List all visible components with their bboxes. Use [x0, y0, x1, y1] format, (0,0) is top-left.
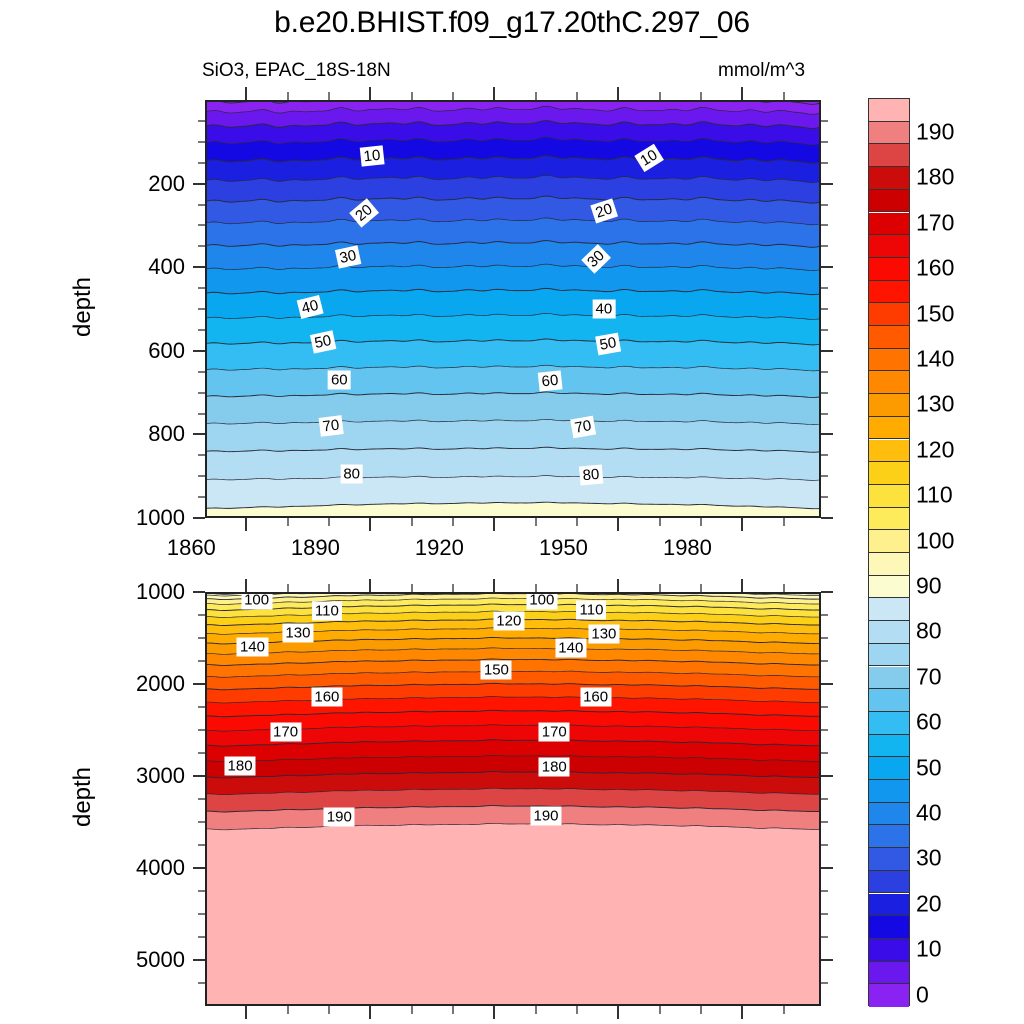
ytick-label-top: 800: [75, 421, 185, 447]
contour-label: 50: [595, 332, 621, 355]
xtick-minor: [328, 92, 330, 100]
xtick-major: [369, 87, 371, 100]
ytick-major: [821, 517, 833, 519]
xtick-major: [369, 1006, 371, 1019]
xtick-minor: [576, 92, 578, 100]
xtick-minor: [411, 92, 413, 100]
ytick-minor: [198, 392, 205, 394]
ytick-minor: [198, 224, 205, 226]
upper-depth-contour-panel: 10102020303040405050606070708080: [205, 100, 821, 518]
contour-label: 30: [334, 245, 360, 268]
contour-label: 160: [580, 688, 611, 707]
xtick-minor: [576, 518, 578, 526]
xtick-label-top: 1980: [632, 535, 742, 561]
ytick-minor: [198, 120, 205, 122]
ytick-minor: [821, 329, 828, 331]
ytick-minor: [821, 496, 828, 498]
ytick-minor: [198, 844, 205, 846]
colorbar-cell[interactable]: [869, 803, 909, 826]
contour-label: 100: [526, 592, 557, 610]
y-axis-title-top: depth: [69, 247, 97, 367]
colorbar-cell[interactable]: [869, 621, 909, 644]
colorbar-tick-label: 90: [916, 573, 942, 600]
colorbar-cell[interactable]: [869, 394, 909, 417]
ytick-major: [193, 350, 205, 352]
ytick-minor: [198, 287, 205, 289]
ytick-minor: [198, 798, 205, 800]
contour-label: 60: [538, 371, 563, 392]
ytick-label-bottom: 2000: [75, 671, 185, 697]
ytick-minor: [198, 936, 205, 938]
ytick-minor: [198, 821, 205, 823]
xtick-minor: [535, 584, 537, 592]
ytick-minor: [198, 308, 205, 310]
ytick-major: [821, 683, 833, 685]
xtick-minor: [659, 92, 661, 100]
xtick-minor: [287, 1006, 289, 1014]
colorbar-cell[interactable]: [869, 644, 909, 667]
ytick-major: [821, 433, 833, 435]
colorbar-tick-label: 190: [916, 119, 954, 146]
ytick-minor: [198, 637, 205, 639]
ytick-major: [193, 266, 205, 268]
xtick-label-top: 1920: [384, 535, 494, 561]
colorbar-cell[interactable]: [869, 462, 909, 485]
colorbar-tick-label: 30: [916, 845, 942, 872]
ytick-major: [193, 517, 205, 519]
ytick-minor: [821, 204, 828, 206]
ytick-minor: [821, 224, 828, 226]
contour-label: 120: [493, 611, 524, 630]
contour-label: 130: [588, 624, 619, 643]
contour-label: 150: [481, 661, 512, 680]
xtick-minor: [783, 1006, 785, 1014]
xtick-minor: [328, 518, 330, 526]
ytick-major: [821, 775, 833, 777]
xtick-major: [741, 87, 743, 100]
ytick-major: [821, 266, 833, 268]
ytick-major: [193, 959, 205, 961]
xtick-major: [493, 518, 495, 531]
lower-depth-contour-panel: 1001001101101201301301401401501601601701…: [205, 592, 821, 1006]
xtick-minor: [287, 518, 289, 526]
colorbar-cell[interactable]: [869, 871, 909, 894]
ytick-minor: [821, 614, 828, 616]
ytick-minor: [198, 245, 205, 247]
colorbar-cell[interactable]: [869, 190, 909, 213]
ytick-minor: [821, 982, 828, 984]
ytick-minor: [821, 392, 828, 394]
colorbar-tick-label: 140: [916, 346, 954, 373]
ytick-minor: [821, 798, 828, 800]
ytick-minor: [198, 614, 205, 616]
xtick-minor: [783, 584, 785, 592]
ytick-minor: [821, 162, 828, 164]
ytick-minor: [821, 936, 828, 938]
contour-label: 160: [311, 687, 342, 706]
contour-label: 60: [328, 370, 351, 389]
ytick-major: [193, 683, 205, 685]
xtick-major: [617, 518, 619, 531]
ytick-minor: [821, 752, 828, 754]
colorbar-cell[interactable]: [869, 99, 909, 122]
ytick-major: [193, 183, 205, 185]
colorbar-cell[interactable]: [869, 326, 909, 349]
contour-label: 180: [225, 757, 256, 776]
contour-label: 140: [237, 638, 268, 657]
ytick-label-top: 200: [75, 171, 185, 197]
contour-field: [207, 594, 821, 1006]
ytick-minor: [198, 496, 205, 498]
colorbar-cell[interactable]: [869, 576, 909, 599]
colorbar-tick-label: 110: [916, 482, 953, 509]
ytick-major: [193, 867, 205, 869]
ytick-minor: [821, 371, 828, 373]
xtick-minor: [783, 518, 785, 526]
ytick-minor: [821, 844, 828, 846]
contour-label: 40: [593, 299, 616, 318]
ytick-minor: [821, 413, 828, 415]
ytick-major: [821, 591, 833, 593]
xtick-minor: [700, 92, 702, 100]
colorbar-cell[interactable]: [869, 984, 909, 1007]
xtick-minor: [535, 518, 537, 526]
colorbar-cell[interactable]: [869, 508, 909, 531]
xtick-major: [741, 579, 743, 592]
colorbar-tick-label: 70: [916, 663, 942, 690]
colorbar-tick-label: 150: [916, 300, 954, 327]
units-label: mmol/m^3: [718, 60, 805, 82]
xtick-major: [369, 579, 371, 592]
contour-label: 10: [360, 146, 385, 167]
colorbar-cell[interactable]: [869, 530, 909, 553]
colorbar-tick-label: 0: [916, 981, 929, 1008]
ytick-minor: [198, 752, 205, 754]
xtick-minor: [576, 1006, 578, 1014]
xtick-minor: [700, 518, 702, 526]
ytick-minor: [198, 660, 205, 662]
xtick-minor: [783, 92, 785, 100]
y-axis-title-bottom: depth: [69, 737, 97, 857]
xtick-major: [617, 579, 619, 592]
xtick-major: [369, 518, 371, 531]
xtick-minor: [659, 584, 661, 592]
ytick-major: [821, 350, 833, 352]
ytick-minor: [198, 141, 205, 143]
ytick-major: [821, 183, 833, 185]
colorbar-tick-label: 10: [916, 936, 942, 963]
xtick-major: [245, 87, 247, 100]
colorbar-tick-label: 50: [916, 754, 942, 781]
colorbar-cell[interactable]: [869, 371, 909, 394]
colorbar-cell[interactable]: [869, 235, 909, 258]
xtick-minor: [328, 1006, 330, 1014]
figure-canvas: b.e20.BHIST.f09_g17.20thC.297_06 SiO3, E…: [0, 0, 1024, 1024]
ytick-minor: [821, 729, 828, 731]
colorbar-cell[interactable]: [869, 667, 909, 690]
colorbar-tick-label: 20: [916, 890, 942, 917]
ytick-minor: [821, 821, 828, 823]
colorbar-cell[interactable]: [869, 848, 909, 871]
ytick-minor: [198, 204, 205, 206]
ytick-major: [193, 591, 205, 593]
xtick-major: [245, 579, 247, 592]
contour-label: 70: [319, 415, 344, 437]
colorbar-cell[interactable]: [869, 440, 909, 463]
xtick-major: [493, 1006, 495, 1019]
xtick-minor: [411, 518, 413, 526]
colorbar-tick-label: 160: [916, 255, 954, 282]
xtick-minor: [328, 584, 330, 592]
ytick-label-bottom: 1000: [75, 579, 185, 605]
ytick-minor: [198, 982, 205, 984]
ytick-label-top: 1000: [75, 505, 185, 531]
xtick-minor: [452, 584, 454, 592]
xtick-minor: [659, 1006, 661, 1014]
ytick-minor: [821, 637, 828, 639]
ytick-label-bottom: 5000: [75, 947, 185, 973]
xtick-major: [617, 1006, 619, 1019]
colorbar-tick-label: 80: [916, 618, 942, 645]
colorbar-cell[interactable]: [869, 303, 909, 326]
xtick-minor: [452, 1006, 454, 1014]
ytick-minor: [821, 660, 828, 662]
ytick-minor: [198, 913, 205, 915]
colorbar-cell[interactable]: [869, 962, 909, 985]
contour-label: 180: [539, 757, 570, 776]
xtick-minor: [411, 584, 413, 592]
variable-region-label: SiO3, EPAC_18S-18N: [202, 60, 391, 82]
colorbar-cell[interactable]: [869, 485, 909, 508]
contour-label: 80: [579, 464, 603, 485]
ytick-minor: [198, 454, 205, 456]
xtick-minor: [452, 518, 454, 526]
xtick-label-top: 1950: [508, 535, 618, 561]
colorbar-cell[interactable]: [869, 825, 909, 848]
xtick-minor: [700, 1006, 702, 1014]
ytick-minor: [198, 371, 205, 373]
colorbar-tick-label: 180: [916, 164, 954, 191]
colorbar-cell[interactable]: [869, 780, 909, 803]
contour-label: 100: [241, 592, 272, 610]
ytick-minor: [198, 729, 205, 731]
ytick-minor: [821, 890, 828, 892]
contour-label: 110: [312, 601, 342, 620]
xtick-minor: [287, 584, 289, 592]
xtick-major: [617, 87, 619, 100]
figure-title: b.e20.BHIST.f09_g17.20thC.297_06: [0, 6, 1024, 40]
colorbar-tick-label: 130: [916, 391, 954, 418]
colorbar-tick-label: 60: [916, 709, 942, 736]
ytick-minor: [821, 287, 828, 289]
xtick-label-top: 1860: [136, 535, 246, 561]
ytick-minor: [821, 120, 828, 122]
ytick-minor: [821, 141, 828, 143]
ytick-minor: [821, 475, 828, 477]
colorbar-cell[interactable]: [869, 417, 909, 440]
ytick-minor: [198, 413, 205, 415]
ytick-minor: [821, 454, 828, 456]
colorbar-tick-label: 40: [916, 800, 942, 827]
colorbar-cell[interactable]: [869, 735, 909, 758]
xtick-major: [245, 518, 247, 531]
ytick-major: [821, 867, 833, 869]
colorbar-cell[interactable]: [869, 916, 909, 939]
xtick-minor: [659, 518, 661, 526]
xtick-major: [741, 1006, 743, 1019]
contour-label: 140: [555, 639, 586, 658]
ytick-minor: [821, 706, 828, 708]
contour-label: 190: [324, 807, 355, 826]
colorbar-cell[interactable]: [869, 167, 909, 190]
ytick-minor: [198, 329, 205, 331]
colorbar-tick-label: 120: [916, 436, 954, 463]
contour-label: 190: [530, 807, 561, 826]
xtick-minor: [411, 1006, 413, 1014]
xtick-minor: [535, 92, 537, 100]
ytick-major: [193, 775, 205, 777]
colorbar-cell[interactable]: [869, 281, 909, 304]
xtick-major: [493, 579, 495, 592]
colorbar-cell[interactable]: [869, 894, 909, 917]
contour-label: 170: [539, 723, 570, 742]
ytick-minor: [821, 308, 828, 310]
ytick-minor: [198, 706, 205, 708]
ytick-minor: [198, 162, 205, 164]
colorbar-cell[interactable]: [869, 712, 909, 735]
contour-label: 130: [282, 624, 313, 643]
colorbar-tick-label: 170: [916, 209, 954, 236]
colorbar-cell[interactable]: [869, 553, 909, 576]
ytick-minor: [821, 245, 828, 247]
colorbar-tick-label: 100: [916, 527, 954, 554]
ytick-label-bottom: 4000: [75, 855, 185, 881]
colorbar-cell[interactable]: [869, 122, 909, 145]
colorbar-cell[interactable]: [869, 349, 909, 372]
contour-label: 110: [577, 601, 607, 620]
colorbar[interactable]: [868, 98, 910, 1006]
colorbar-cell[interactable]: [869, 757, 909, 780]
colorbar-cell[interactable]: [869, 258, 909, 281]
ytick-minor: [198, 475, 205, 477]
xtick-major: [245, 1006, 247, 1019]
colorbar-cell[interactable]: [869, 939, 909, 962]
ytick-major: [193, 433, 205, 435]
xtick-major: [493, 87, 495, 100]
xtick-minor: [452, 92, 454, 100]
xtick-label-top: 1890: [260, 535, 370, 561]
xtick-minor: [535, 1006, 537, 1014]
colorbar-cell[interactable]: [869, 144, 909, 167]
contour-label: 170: [270, 723, 301, 742]
ytick-major: [821, 959, 833, 961]
xtick-minor: [287, 92, 289, 100]
contour-label: 80: [340, 465, 363, 484]
colorbar-cell[interactable]: [869, 598, 909, 621]
ytick-minor: [198, 890, 205, 892]
xtick-minor: [700, 584, 702, 592]
xtick-major: [741, 518, 743, 531]
colorbar-cell[interactable]: [869, 213, 909, 236]
xtick-minor: [576, 584, 578, 592]
colorbar-cell[interactable]: [869, 689, 909, 712]
ytick-minor: [821, 913, 828, 915]
